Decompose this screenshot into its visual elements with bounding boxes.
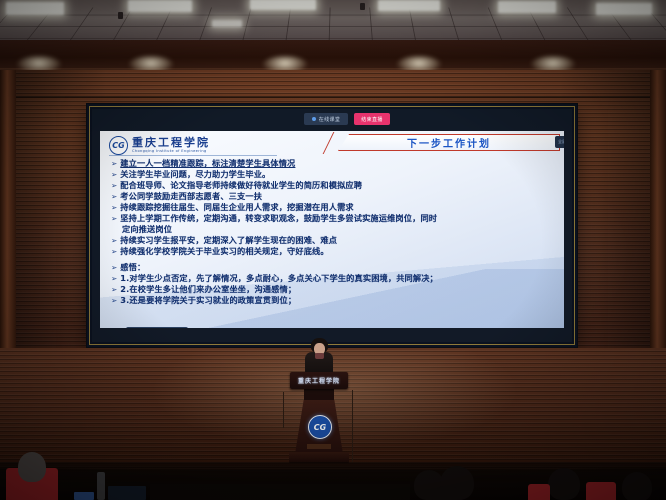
bullet-row: ➢ 配合班导师、论文指导老师持续做好待就业学生的简历和模拟应聘 [111, 181, 554, 190]
end-live-label: 结束直播 [361, 116, 383, 123]
slide-title: 下一步工作计划 [338, 134, 560, 151]
lecture-hall-photo: 在线课堂 结束直播 CG 重庆工程学院 Chongqing Institute … [0, 0, 666, 500]
end-live-button[interactable]: 结束直播 [354, 113, 390, 125]
bullet-text: 关注学生毕业问题，尽力助力学生毕业。 [120, 170, 270, 179]
bullet-marker-icon: ➢ [111, 274, 117, 283]
online-class-icon [312, 117, 316, 121]
lectern-name-plate: 重庆工程学院 [290, 376, 348, 385]
projection-screen: 在线课堂 结束直播 CG 重庆工程学院 Chongqing Institute … [86, 103, 578, 348]
logo-wordmark: 重庆工程学院 Chongqing Institute of Engineerin… [132, 137, 210, 153]
bullet-text: 持续实习学生报平安，定期深入了解学生现在的困难、难点 [120, 236, 337, 245]
bullet-marker-icon: ➢ [111, 296, 117, 305]
app-topbar: 在线课堂 结束直播 [92, 109, 572, 131]
laptop [108, 486, 146, 500]
audience-seat [586, 482, 616, 500]
bullet-marker-icon: ➢ [111, 181, 117, 190]
water-bottle [97, 472, 105, 500]
lectern: 重庆工程学院 CG [287, 372, 351, 470]
bullet-marker-icon: ➢ [111, 285, 117, 294]
lectern-neck [304, 388, 334, 401]
slide-bullet-list: ➢ 建立一人一档精准跟踪，标注清楚学生具体情况 ➢ 关注学生毕业问题，尽力助力学… [111, 159, 554, 307]
logo-name-en: Chongqing Institute of Engineering [132, 150, 210, 154]
online-class-label: 在线课堂 [319, 116, 341, 123]
ceiling-camera [118, 12, 123, 19]
bullet-row: ➢ 考公同学鼓励走西部志愿者、三支一扶 [111, 192, 554, 201]
presentation-slide: CG 重庆工程学院 Chongqing Institute of Enginee… [100, 131, 564, 328]
audience-head [622, 472, 652, 500]
bullet-text: 坚持上学期工作传统，定期沟通，转变求职观念，鼓励学生多尝试实施运维岗位，同时 [120, 214, 437, 223]
bullet-marker-icon: ➢ [111, 236, 117, 245]
bullet-row: ➢ 持续强化学校学院关于毕业实习的相关规定，守好底线。 [111, 247, 554, 256]
bullet-row: ➢ 坚持上学期工作传统，定期沟通，转变求职观念，鼓励学生多尝试实施运维岗位，同时 [111, 214, 554, 223]
ceiling-light [250, 0, 316, 10]
bullet-row: ➢ 持续实习学生报平安，定期深入了解学生现在的困难、难点 [111, 236, 554, 245]
reflection-heading: 感悟： [120, 263, 145, 272]
bullet-marker-icon: ➢ [111, 192, 117, 201]
ceiling-light [596, 3, 652, 15]
bullet-marker-icon: ➢ [111, 247, 117, 256]
bullet-text: 配合班导师、论文指导老师持续做好待就业学生的简历和模拟应聘 [120, 181, 362, 190]
reflection-heading-row: ➢ 感悟： [111, 263, 554, 272]
ceiling-light [212, 20, 242, 27]
bullet-text: 持续强化学校学院关于毕业实习的相关规定，守好底线。 [120, 247, 328, 256]
lectern-emblem-letters: CG [314, 423, 326, 432]
lectern-emblem-icon: CG [308, 415, 332, 439]
reflection-row: ➢ 2.在校学生多让他们来办公室坐坐，沟通感情； [111, 285, 554, 294]
logo-mark-letters: CG [112, 142, 124, 150]
reflection-text: 2.在校学生多让他们来办公室坐坐，沟通感情； [120, 285, 296, 294]
bullet-marker-icon: ➢ [111, 263, 117, 272]
slide-title-banner: 下一步工作计划 全屏 [338, 134, 560, 151]
ceiling-light [498, 1, 556, 13]
bullet-text: 定向推送岗位 [111, 225, 172, 234]
reflection-text: 3.还是要将学院关于实习就业的政策宣贯到位； [120, 296, 296, 305]
bullet-row: ➢ 关注学生毕业问题，尽力助力学生毕业。 [111, 170, 554, 179]
tablet [74, 492, 94, 500]
bullet-text: 持续跟踪挖掘往届生、同届生企业用人需求，挖掘潜在用人需求 [120, 203, 353, 212]
bullet-row-continuation: 定向推送岗位 [111, 225, 554, 234]
ceiling-camera [360, 3, 365, 10]
logo-underline [109, 155, 277, 156]
cable [352, 390, 353, 462]
lectern-top: 重庆工程学院 [290, 372, 348, 389]
ceiling-light [6, 2, 64, 15]
bullet-row: ➢ 建立一人一档精准跟踪，标注清楚学生具体情况 [111, 159, 554, 168]
cable [283, 392, 284, 428]
danmaku-input[interactable]: 发送弹幕… ➤ [126, 327, 188, 328]
front-desk-row [150, 484, 410, 500]
bullet-row: ➢ 持续跟踪挖掘往届生、同届生企业用人需求，挖掘潜在用人需求 [111, 203, 554, 212]
wall-seam [0, 96, 666, 98]
lectern-plate [307, 444, 331, 449]
logo-emblem-icon: CG [109, 136, 128, 155]
slide-corner-badge[interactable]: 全屏 [555, 136, 564, 148]
bullet-marker-icon: ➢ [111, 214, 117, 223]
ceiling-light [378, 0, 440, 11]
ceiling-light [128, 0, 192, 12]
bullet-marker-icon: ➢ [111, 170, 117, 179]
reflection-row: ➢ 3.还是要将学院关于实习就业的政策宣贯到位； [111, 296, 554, 305]
streaming-app-window: 在线课堂 结束直播 CG 重庆工程学院 Chongqing Institute … [92, 109, 572, 342]
bullet-marker-icon: ➢ [111, 159, 117, 168]
bullet-text: 建立一人一档精准跟踪，标注清楚学生具体情况 [120, 159, 295, 168]
online-class-button[interactable]: 在线课堂 [304, 113, 348, 125]
reflection-text: 1.对学生少点否定，先了解情况，多点耐心，多点关心下学生的真实困境，共同解决； [120, 274, 438, 283]
speaker-scarf [315, 353, 324, 359]
audience-head [548, 468, 580, 500]
bullet-marker-icon: ➢ [111, 203, 117, 212]
reflection-row: ➢ 1.对学生少点否定，先了解情况，多点耐心，多点关心下学生的真实困境，共同解决… [111, 274, 554, 283]
audience-head [18, 452, 46, 482]
university-logo: CG 重庆工程学院 Chongqing Institute of Enginee… [109, 136, 210, 155]
logo-name-cn: 重庆工程学院 [132, 137, 210, 148]
bullet-text: 考公同学鼓励走西部志愿者、三支一扶 [120, 192, 262, 201]
audience-seat [528, 484, 550, 500]
